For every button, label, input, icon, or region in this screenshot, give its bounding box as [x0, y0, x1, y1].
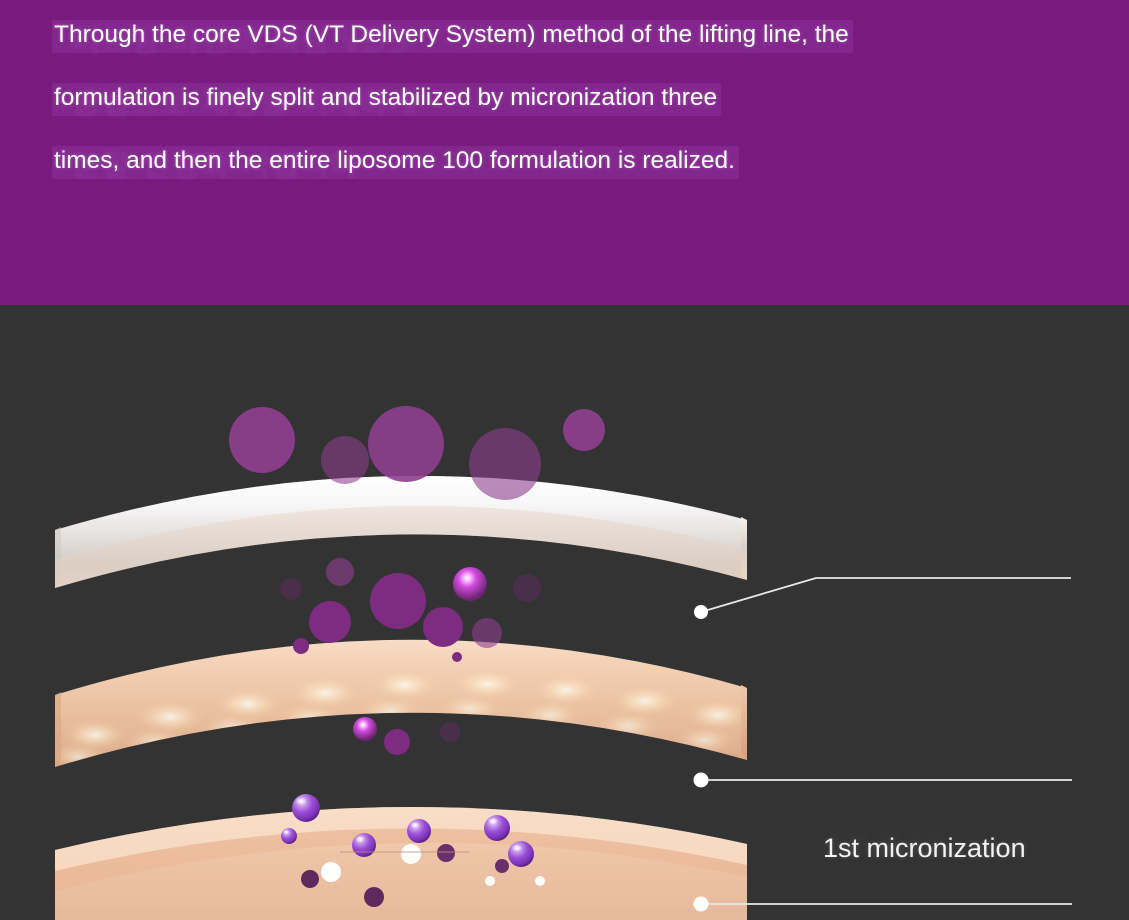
callout-3-dot[interactable]	[694, 897, 709, 912]
layer-white-film	[55, 476, 747, 588]
callout-1-dot[interactable]	[694, 605, 708, 619]
header-text-line-3: times, and then the entire liposome 100 …	[52, 146, 739, 179]
layer-skin-surface	[55, 807, 747, 920]
layers-illustration	[0, 305, 1129, 920]
diagram-stage: 1차 미세화 2차 미세화 3차 미세화	[0, 305, 1129, 920]
callout-1-label: 1st micronization	[823, 833, 1026, 864]
infographic-page: 리프팅 라인의 핵심 VDS 공법으로 제형을 미세하게 분할 안정화 시킵니다…	[0, 0, 1129, 920]
header-text-line-1: Through the core VDS (VT Delivery System…	[52, 20, 853, 53]
layer-peach-cells	[47, 640, 751, 788]
header-text-line-2: formulation is finely split and stabiliz…	[52, 83, 721, 116]
header-banner: 리프팅 라인의 핵심 VDS 공법으로 제형을 미세하게 분할 안정화 시킵니다…	[0, 0, 1129, 305]
callout-2-dot[interactable]	[694, 773, 709, 788]
